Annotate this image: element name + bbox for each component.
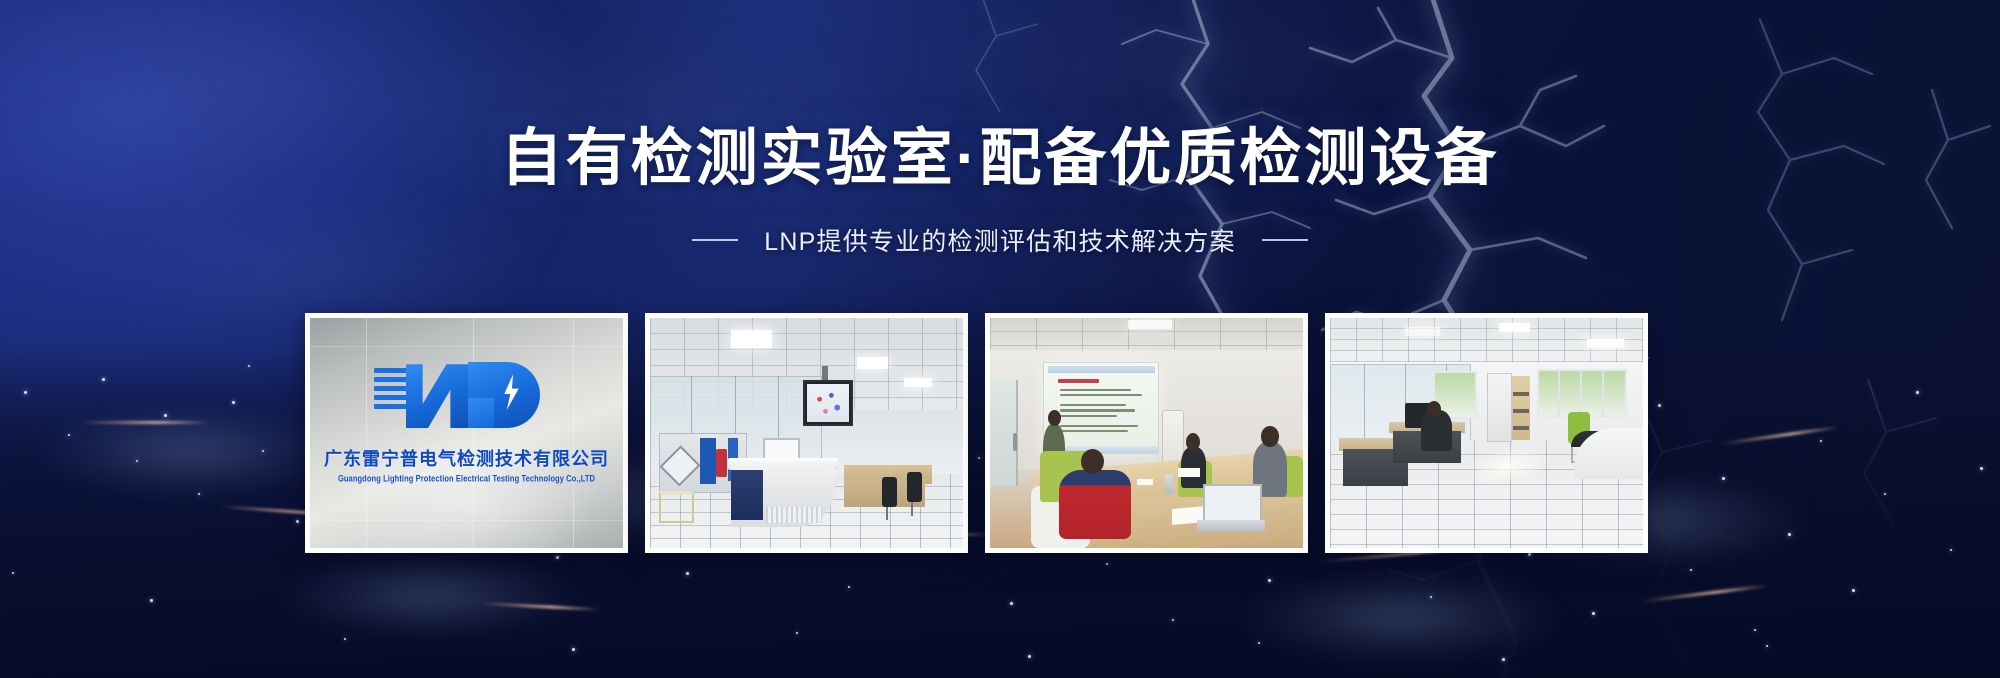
- slide-text-line: [1060, 430, 1128, 432]
- lab-stool: [659, 491, 693, 523]
- photo-office-workspace: [1330, 318, 1643, 548]
- ceiling-vent: [1405, 327, 1439, 336]
- office-chair: [882, 477, 898, 507]
- ceiling-light: [904, 378, 932, 387]
- glass-mullion: [1364, 364, 1365, 447]
- photo-company-logo-wall: 广东雷宁普电气检测技术有限公司 Guangdong Lighting Prote…: [310, 318, 623, 548]
- attendee-head-right: [1261, 426, 1279, 447]
- employee-head: [1427, 401, 1441, 417]
- wall-seam: [366, 318, 367, 548]
- slide-text-line: [1060, 409, 1135, 411]
- ceiling-light: [857, 357, 888, 369]
- slide-text-line: [1060, 394, 1142, 396]
- wall-seam: [473, 318, 474, 548]
- company-name-chinese: 广东雷宁普电气检测技术有限公司: [310, 445, 623, 471]
- company-name-english: Guangdong Lighting Protection Electrical…: [310, 473, 623, 484]
- office-chair: [907, 472, 923, 502]
- ceiling-light: [1499, 323, 1530, 332]
- logo-letter-p: [468, 362, 540, 428]
- ceiling-light: [1128, 320, 1172, 329]
- page-title: 自有检测实验室·配备优质检测设备: [501, 128, 1500, 190]
- subtitle-text: LNP提供专业的检测评估和技术解决方案: [764, 222, 1235, 258]
- logo-letter-n: [406, 364, 472, 428]
- window-frame-bar: [1602, 369, 1604, 417]
- slide-text-line: [1060, 415, 1117, 417]
- photo-card-testing-laboratory[interactable]: [645, 313, 968, 553]
- slide-text-line: [1060, 425, 1137, 427]
- subtitle-rule-left: [692, 239, 738, 241]
- photo-card-meeting-room[interactable]: [985, 313, 1308, 553]
- thermos-cup: [1165, 474, 1173, 495]
- attendee-body-foreground: [1059, 470, 1131, 539]
- wall-seam: [310, 520, 623, 521]
- tv-screen: [807, 384, 849, 422]
- photo-card-gallery: 广东雷宁普电气检测技术有限公司 Guangdong Lighting Prote…: [305, 313, 1648, 553]
- wall-seam: [310, 346, 623, 347]
- slide-title: [1058, 379, 1099, 384]
- wall-sheen: [310, 318, 623, 548]
- test-equipment-blue: [700, 438, 716, 484]
- subtitle-rule-right: [1262, 239, 1308, 241]
- photo-card-company-logo-wall[interactable]: 广东雷宁普电气检测技术有限公司 Guangdong Lighting Prote…: [305, 313, 628, 553]
- photo-card-office-workspace[interactable]: [1325, 313, 1648, 553]
- laptop-keyboard: [1197, 520, 1266, 532]
- lnp-logo-icon: [372, 360, 562, 432]
- window-frame-bar: [1580, 369, 1582, 417]
- paper-sheet: [1137, 479, 1153, 485]
- console-blue-panel: [731, 470, 762, 521]
- wooden-shelf: [1512, 376, 1531, 440]
- promo-banner: 自有检测实验室·配备优质检测设备 LNP提供专业的检测评估和技术解决方案: [0, 0, 2000, 678]
- photo-meeting-room: [990, 318, 1303, 548]
- door-handle: [1013, 433, 1017, 451]
- paper-notebook: [1178, 468, 1200, 477]
- ceiling-light: [731, 330, 772, 348]
- subtitle-container: LNP提供专业的检测评估和技术解决方案: [0, 222, 2000, 258]
- laptop-screen: [1203, 484, 1262, 523]
- wall-mounted-tv: [803, 380, 853, 426]
- slide-text-line: [1060, 404, 1126, 406]
- window-frame-bar: [1558, 369, 1560, 417]
- slide-header-bar: [1048, 366, 1155, 372]
- headline-container: 自有检测实验室·配备优质检测设备: [0, 128, 2000, 190]
- storage-cabinet: [1487, 373, 1512, 442]
- test-equipment-red: [716, 449, 727, 477]
- photo-testing-laboratory: [650, 318, 963, 548]
- console-vent: [766, 507, 822, 523]
- ceiling-light: [1587, 339, 1625, 348]
- slide-text-line: [1060, 389, 1131, 391]
- wall-seam: [573, 318, 574, 548]
